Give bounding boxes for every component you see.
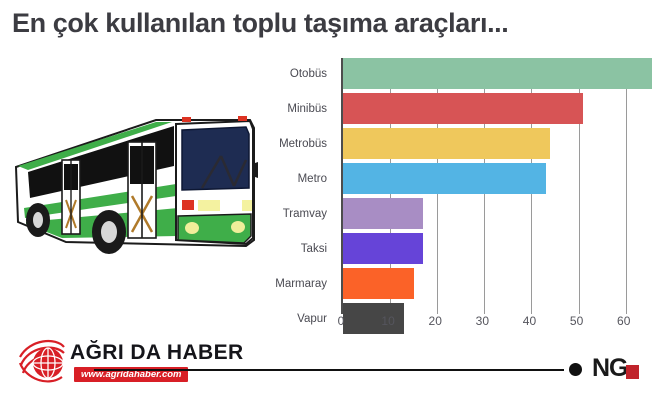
x-tick-label: 60 — [617, 314, 630, 328]
ng-logo-text: NG — [592, 354, 628, 382]
bar-metro — [343, 163, 546, 194]
value-axis: 0102030405060 — [341, 314, 652, 332]
city-bus-illustration — [6, 104, 258, 282]
bar-minibüs — [343, 93, 583, 124]
bar-chart: OtobüsMinibüsMetrobüsMetroTramvayTaksiMa… — [258, 56, 652, 328]
bar-row — [343, 93, 652, 124]
category-label: Vapur — [258, 303, 334, 334]
bar-row — [343, 128, 652, 159]
x-tick-label: 10 — [381, 314, 394, 328]
bar-marmaray — [343, 268, 414, 299]
bar-tramvay — [343, 198, 423, 229]
bar-row — [343, 198, 652, 229]
category-label: Tramvay — [258, 198, 334, 229]
bar-row — [343, 58, 652, 89]
x-tick-label: 0 — [338, 314, 345, 328]
bar-otobüs — [343, 58, 652, 89]
agrida-haber-title: AĞRI DA HABER — [70, 341, 244, 365]
ng-logo-accent — [626, 365, 639, 379]
category-label: Marmaray — [258, 268, 334, 299]
ng-logo-rule — [94, 369, 564, 371]
category-label: Taksi — [258, 233, 334, 264]
category-label: Otobüs — [258, 58, 334, 89]
agrida-haber-logo[interactable]: AĞRI DA HABER www.agridahaber.com — [10, 331, 220, 393]
x-tick-label: 50 — [570, 314, 583, 328]
globe-icon — [18, 337, 70, 389]
plot-area — [341, 58, 652, 314]
category-label: Minibüs — [258, 93, 334, 124]
bar-metrobüs — [343, 128, 550, 159]
category-label: Metrobüs — [258, 128, 334, 159]
bar-row — [343, 268, 652, 299]
x-tick-label: 40 — [523, 314, 536, 328]
bar-row — [343, 163, 652, 194]
category-axis-labels: OtobüsMinibüsMetrobüsMetroTramvayTaksiMa… — [258, 58, 334, 338]
page-title: En çok kullanılan toplu taşıma araçları.… — [12, 8, 508, 39]
x-tick-label: 30 — [476, 314, 489, 328]
bar-row — [343, 233, 652, 264]
category-label: Metro — [258, 163, 334, 194]
bars-group — [343, 58, 652, 338]
ng-logo-dot-icon — [569, 363, 582, 376]
ng-logo[interactable]: NG — [568, 352, 642, 386]
bar-taksi — [343, 233, 423, 264]
x-tick-label: 20 — [429, 314, 442, 328]
